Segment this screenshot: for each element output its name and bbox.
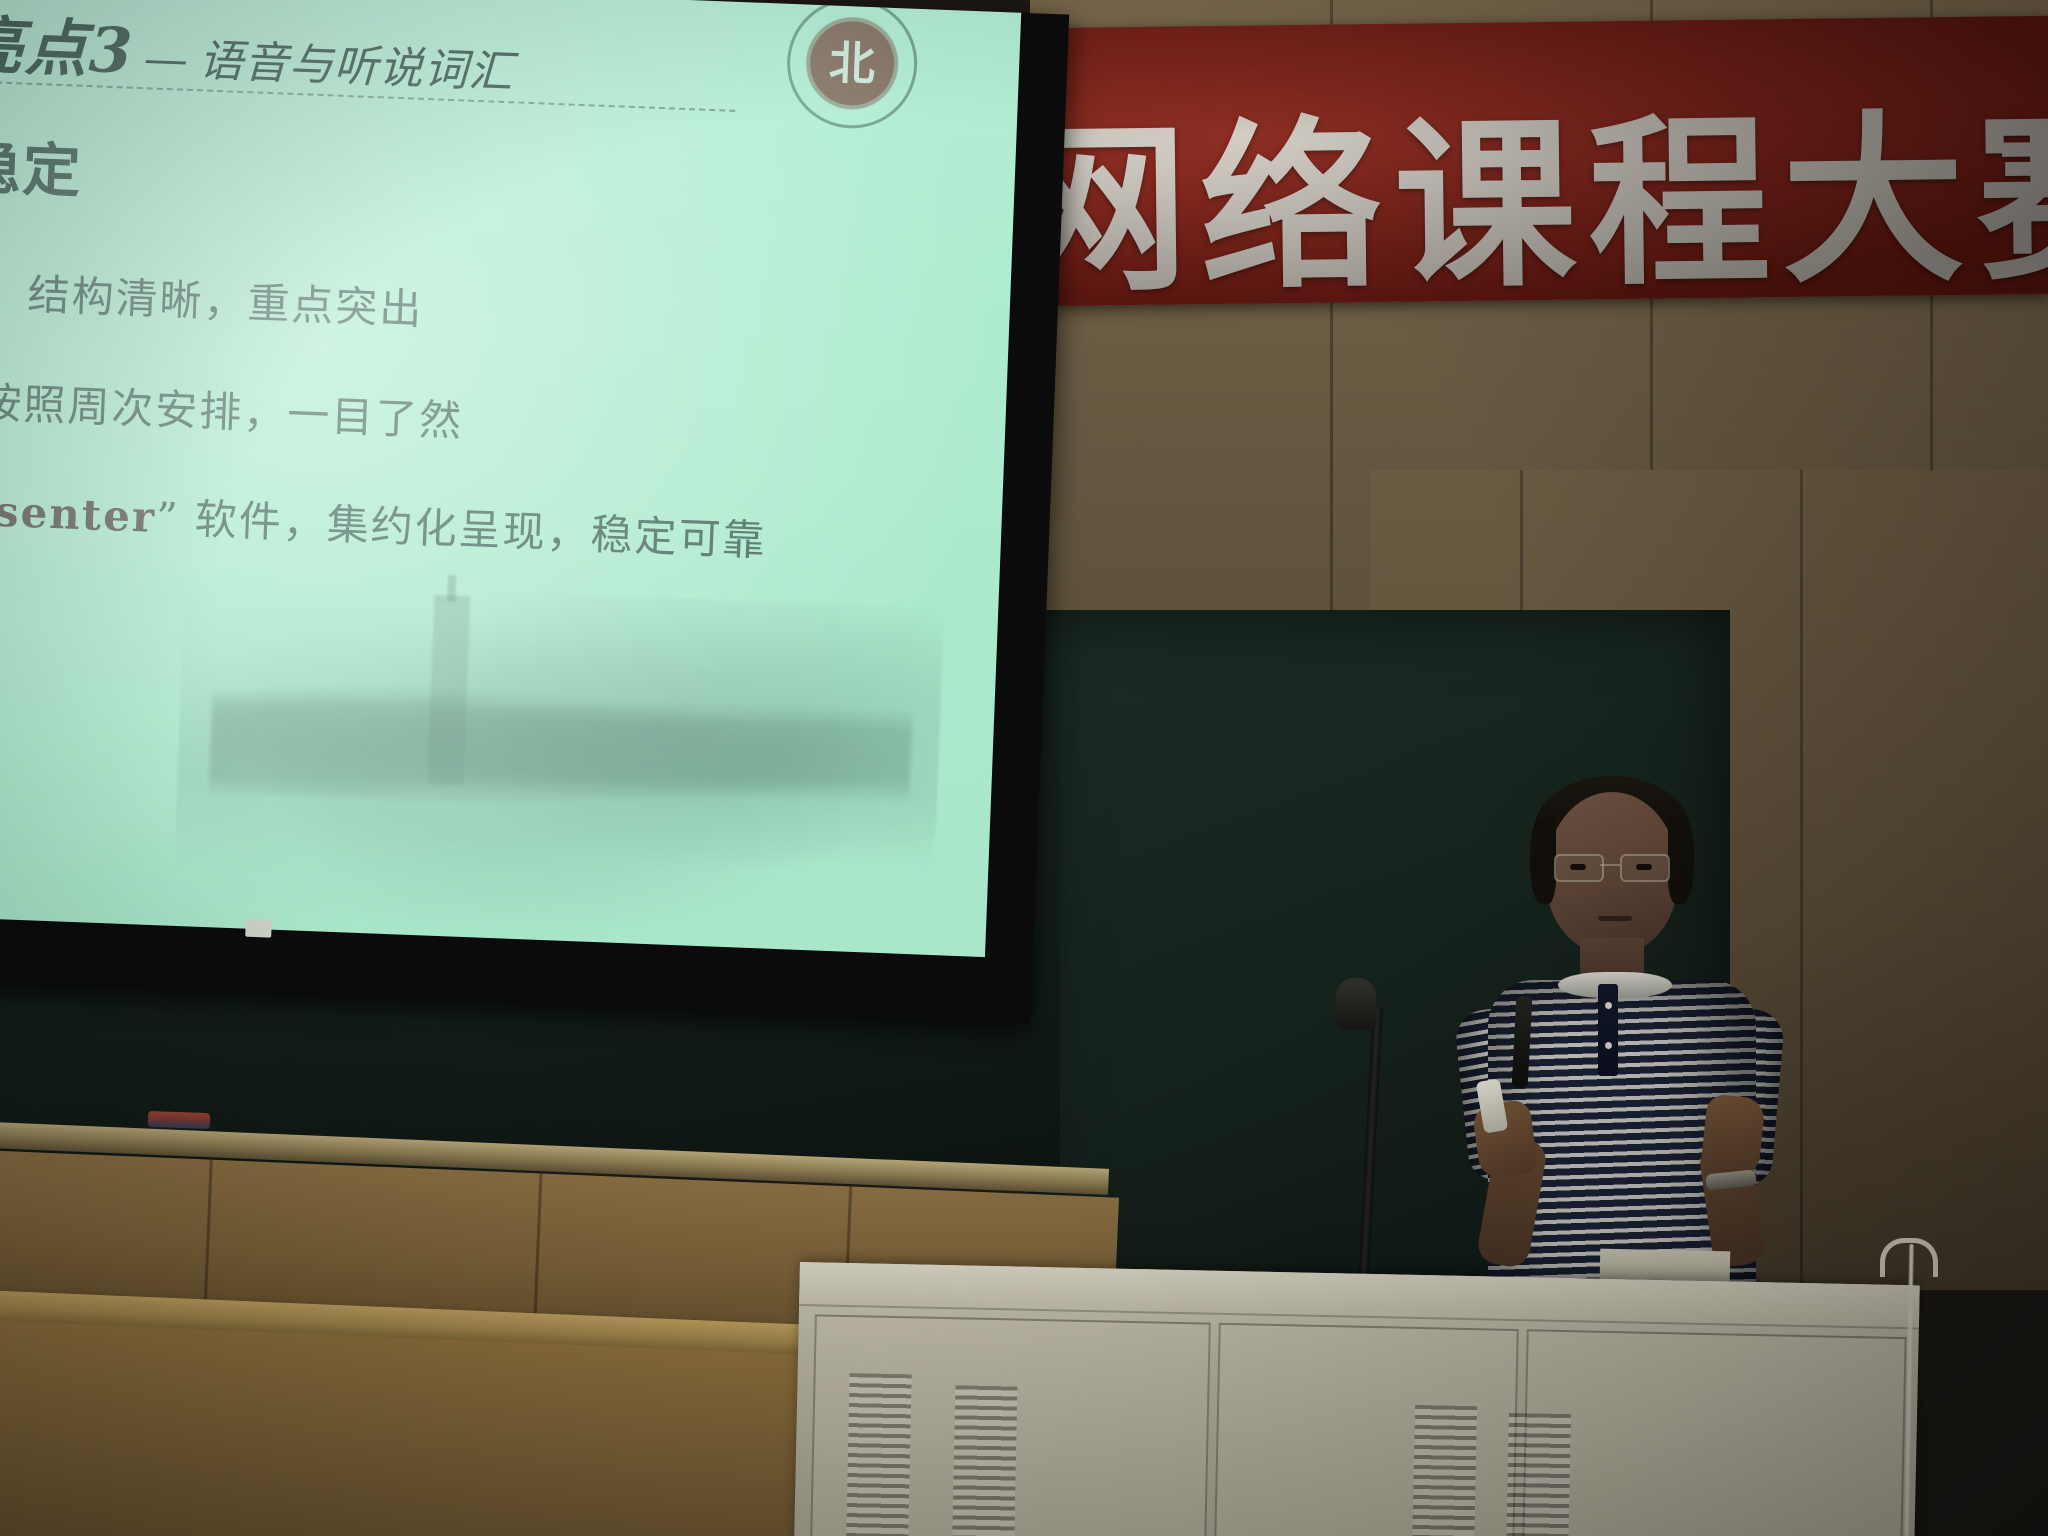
speaker-hair-left (1530, 818, 1556, 904)
bullet3-rest: ” 软件，集约化呈现，稳定可靠 (155, 493, 767, 565)
pku-seal-center: 北 (809, 20, 896, 107)
banner-text: 网络课程大赛 (1050, 106, 2048, 302)
podium-vent (952, 1385, 1018, 1536)
lecture-hall-photo: 网络课程大赛 作亮点3—语音与听说词汇 北 效稳定 简约，结构清晰，重点突出 教… (0, 0, 2048, 1536)
slide-heading: 效稳定 (0, 118, 84, 209)
desk-seam (533, 1173, 542, 1323)
microphone-head-icon[interactable] (1336, 978, 1376, 1030)
speaker-eye-left (1570, 864, 1586, 870)
screen-pull-tab (245, 919, 272, 938)
slide-title-dash: — (143, 33, 190, 86)
podium-side-shelf (1600, 1249, 1731, 1282)
photo-pagoda-tip (447, 575, 456, 601)
desk-seam (204, 1160, 213, 1310)
glasses-bridge (1600, 864, 1620, 866)
podium-vent (1506, 1413, 1571, 1536)
presentation-slide: 作亮点3—语音与听说词汇 北 效稳定 简约，结构清晰，重点突出 教案按照周次安排… (0, 0, 1021, 957)
podium-vent (1412, 1405, 1478, 1536)
slide-title-sub: 语音与听说词汇 (198, 35, 515, 98)
slide-title-main: 作亮点3 (0, 6, 136, 88)
slide-bullet-3: “presenter” 软件，集约化呈现，稳定可靠 (0, 474, 768, 569)
shirt-button (1605, 1042, 1612, 1049)
pku-seal-icon: 北 (785, 0, 920, 131)
speaker-eye-right (1636, 864, 1652, 870)
shirt-button (1605, 1002, 1612, 1009)
speaker-shirt-placket (1598, 984, 1618, 1076)
speaker-mouth (1598, 916, 1632, 921)
speaker-hand-right (1700, 1093, 1766, 1177)
podium-panel-right[interactable] (1522, 1329, 1907, 1536)
speaker-person (1430, 780, 1990, 1300)
podium-cabinet[interactable] (794, 1262, 1920, 1536)
podium-vent (846, 1373, 912, 1536)
bullet3-en-term: presenter (0, 484, 157, 542)
slide-bullet-1: 简约，结构清晰，重点突出 (0, 256, 425, 337)
projection-screen: 作亮点3—语音与听说词汇 北 效稳定 简约，结构清晰，重点突出 教案按照周次安排… (0, 0, 1021, 957)
slide-bullet-2: 教案按照周次安排，一目了然 (0, 366, 464, 449)
projection-screen-frame: 作亮点3—语音与听说词汇 北 效稳定 简约，结构清晰，重点突出 教案按照周次安排… (0, 0, 1069, 1024)
slide-title: 作亮点3—语音与听说词汇 (0, 0, 516, 105)
red-banner: 网络课程大赛 (1050, 16, 2048, 306)
blackboard-eraser (148, 1111, 211, 1129)
photo-pagoda (427, 595, 470, 786)
